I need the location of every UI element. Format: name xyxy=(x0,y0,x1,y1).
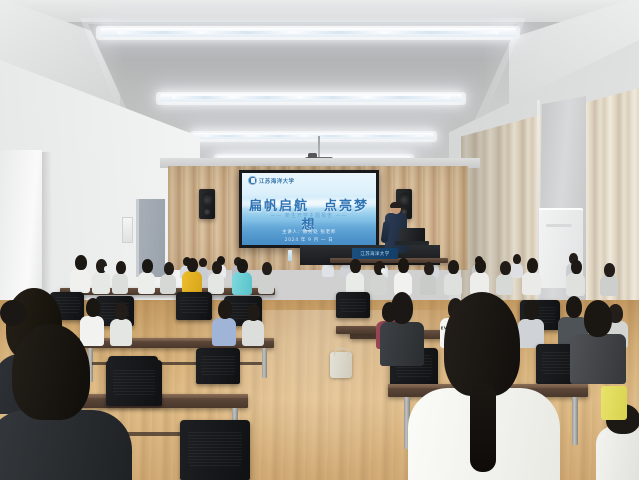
head xyxy=(12,324,90,420)
student-b-11 xyxy=(420,262,436,294)
ponytail xyxy=(470,384,496,472)
torso xyxy=(258,274,274,294)
student-b-16 xyxy=(566,260,585,295)
desk-leg-2 xyxy=(262,348,267,378)
face-mask xyxy=(381,268,386,274)
head xyxy=(164,262,174,275)
torso xyxy=(208,273,224,294)
student-yellow-shirt xyxy=(182,258,202,294)
torso xyxy=(92,272,110,294)
head xyxy=(527,258,538,273)
student-b-10 xyxy=(394,258,412,294)
slide-footer-presenter: 主讲人：教务处 张老师 xyxy=(242,229,376,235)
student-teal-shirt xyxy=(232,259,252,295)
presenter-laptop xyxy=(399,228,425,242)
student-foreground-black-shirt xyxy=(0,324,132,480)
torso xyxy=(570,334,626,384)
student-b-14 xyxy=(496,261,513,294)
head xyxy=(604,263,615,277)
chair-d-3[interactable] xyxy=(180,420,250,480)
presenter-hair xyxy=(390,202,402,208)
student-d-3 xyxy=(570,300,626,380)
audience-row-b xyxy=(60,255,639,295)
student-b-9 xyxy=(370,261,387,294)
student-b-8 xyxy=(346,259,364,294)
student-b-17 xyxy=(600,263,618,295)
student-b-5 xyxy=(160,262,176,293)
student-b-3 xyxy=(112,261,128,293)
head xyxy=(75,255,87,270)
head xyxy=(444,292,520,396)
student-b-12 xyxy=(444,260,462,294)
slide-logo-text: 江苏海洋大学 xyxy=(259,177,294,185)
chair-c-2[interactable] xyxy=(196,348,240,384)
head xyxy=(500,261,511,275)
head xyxy=(350,259,361,273)
projection-screen: 江苏海洋大学 扁帆启航 点亮梦想 —— 新生开学主题报告 —— 主讲人：教务处 … xyxy=(239,170,379,248)
slide-logo: 江苏海洋大学 xyxy=(248,176,294,185)
face-mask xyxy=(104,266,109,272)
head xyxy=(218,300,232,319)
projector-mount-pole xyxy=(318,136,320,158)
light-strip-1 xyxy=(100,28,516,37)
head xyxy=(398,258,409,273)
desk-bag-white[interactable] xyxy=(330,352,352,378)
student-c-4 xyxy=(242,304,264,344)
yellow-tote-bag[interactable] xyxy=(601,386,627,420)
light-strip-3 xyxy=(193,133,434,139)
student-b-13 xyxy=(470,259,489,294)
head xyxy=(262,262,272,275)
presentation-slide: 江苏海洋大学 扁帆启航 点亮梦想 —— 新生开学主题报告 —— 主讲人：教务处 … xyxy=(242,173,376,245)
slide-footer-date: 2024 年 9 月 一 日 xyxy=(242,237,376,243)
slide-subtitle: —— 新生开学主题报告 —— xyxy=(242,212,376,219)
torso xyxy=(160,274,176,294)
head xyxy=(448,260,459,274)
water-bottle xyxy=(288,250,292,261)
head xyxy=(86,298,100,317)
student-ponytail-white-shirt xyxy=(408,292,560,480)
desk-leg-6 xyxy=(572,397,578,445)
head xyxy=(142,259,153,273)
student-b-6 xyxy=(208,261,224,293)
lecture-hall-photo: 江苏海洋大学 扁帆启航 点亮梦想 —— 新生开学主题报告 —— 主讲人：教务处 … xyxy=(0,0,639,480)
torso xyxy=(242,320,264,346)
head xyxy=(475,259,486,273)
university-crest-icon xyxy=(248,176,257,185)
student-b-7 xyxy=(258,262,274,293)
torso xyxy=(182,271,202,294)
head xyxy=(424,262,434,275)
head xyxy=(187,258,198,272)
light-strip-2 xyxy=(160,94,462,102)
wall-control-panel[interactable] xyxy=(122,217,133,243)
torso xyxy=(212,318,236,346)
student-b-4 xyxy=(138,259,155,293)
head xyxy=(212,261,222,274)
student-c-3 xyxy=(212,300,236,344)
student-b-2 xyxy=(92,259,110,293)
wall-speaker-left xyxy=(199,189,215,219)
head xyxy=(571,260,582,274)
head xyxy=(116,261,126,274)
torso xyxy=(596,426,639,480)
student-b-15 xyxy=(522,258,541,294)
torso xyxy=(0,410,132,480)
torso xyxy=(112,273,128,294)
head xyxy=(115,302,128,320)
head xyxy=(237,259,248,273)
hair-bun xyxy=(0,300,26,326)
torso xyxy=(138,272,155,294)
head xyxy=(584,300,612,337)
head xyxy=(247,304,260,321)
